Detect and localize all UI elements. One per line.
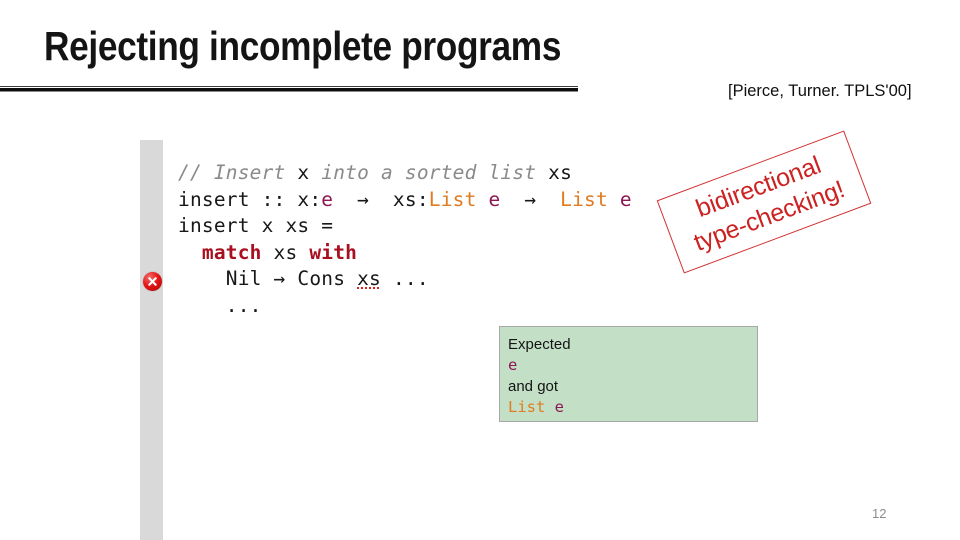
code-token-type: List bbox=[429, 188, 477, 211]
code-block[interactable]: // Insert x into a sorted list xsinsert … bbox=[178, 160, 632, 319]
code-token-comment: into a sorted list bbox=[309, 161, 548, 184]
code-line-ellipsis: ... bbox=[178, 293, 632, 320]
code-token-plain bbox=[178, 241, 202, 264]
code-line-match: match xs with bbox=[178, 240, 632, 267]
code-line-comment: // Insert x into a sorted list xs bbox=[178, 160, 632, 187]
page-title: Rejecting incomplete programs bbox=[44, 22, 561, 70]
tooltip-expected-label: Expected bbox=[508, 334, 757, 355]
divider-thin-top bbox=[0, 86, 578, 87]
page-number: 12 bbox=[872, 506, 886, 521]
error-tooltip: Expected e and got List e bbox=[499, 326, 758, 422]
code-token-keyword: with bbox=[309, 241, 357, 264]
code-token-plain: xs bbox=[262, 241, 310, 264]
divider-thin-bottom bbox=[0, 91, 578, 92]
code-token-typevar: e bbox=[488, 188, 500, 211]
code-token-plain: insert x xs = bbox=[178, 214, 333, 237]
code-line-definition: insert x xs = bbox=[178, 213, 632, 240]
code-token-plain: insert :: x: bbox=[178, 188, 321, 211]
code-token-comment: // Insert bbox=[178, 161, 297, 184]
code-line-signature: insert :: x:e → xs:List e → List e bbox=[178, 187, 632, 214]
title-divider bbox=[0, 86, 578, 92]
tooltip-actual-type-constructor: List bbox=[508, 398, 545, 416]
code-token-plain: → xs: bbox=[333, 188, 429, 211]
code-token-typevar: e bbox=[620, 188, 632, 211]
editor-gutter bbox=[140, 140, 163, 540]
tooltip-andgot-label: and got bbox=[508, 376, 757, 397]
code-token-plain bbox=[477, 188, 489, 211]
tooltip-expected-type: e bbox=[508, 355, 757, 376]
code-line-nil-branch: Nil → Cons xs ... bbox=[178, 266, 632, 293]
code-token-type: List bbox=[560, 188, 608, 211]
tooltip-actual-type: List e bbox=[508, 397, 757, 418]
tooltip-actual-type-var: e bbox=[555, 398, 564, 416]
code-token-typevar: e bbox=[321, 188, 333, 211]
citation-reference: [Pierce, Turner. TPLS'00] bbox=[728, 82, 912, 101]
error-circle-x-icon[interactable] bbox=[143, 272, 162, 291]
code-token-plain: xs bbox=[548, 161, 572, 184]
code-token-error-underline: xs bbox=[357, 267, 381, 290]
code-token-plain: ... bbox=[381, 267, 429, 290]
code-token-plain: → bbox=[500, 188, 560, 211]
code-token-plain: x bbox=[297, 161, 309, 184]
code-token-plain bbox=[608, 188, 620, 211]
tooltip-actual-type-space bbox=[545, 398, 554, 416]
code-token-plain: ... bbox=[178, 294, 262, 317]
code-token-keyword: match bbox=[202, 241, 262, 264]
code-token-plain: Nil → Cons bbox=[178, 267, 357, 290]
